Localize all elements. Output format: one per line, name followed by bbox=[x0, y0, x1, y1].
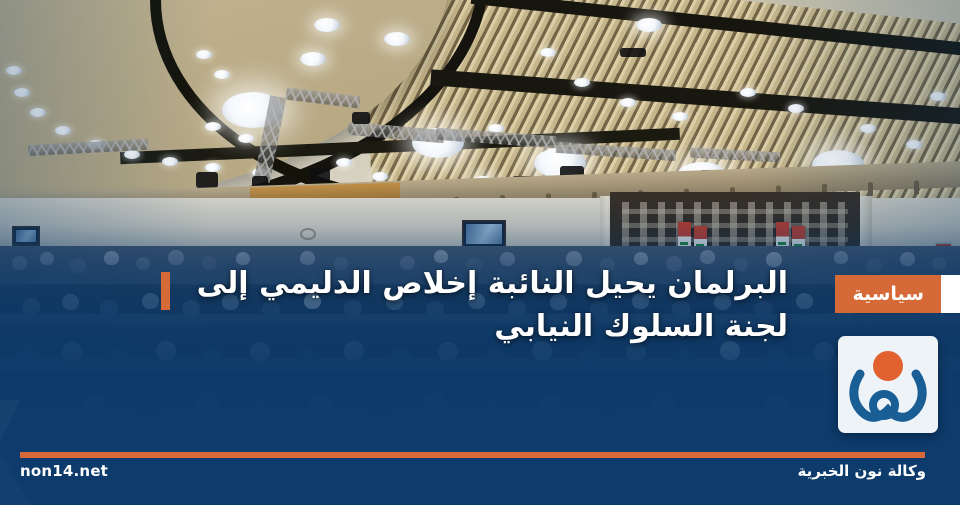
footer-divider bbox=[20, 452, 925, 458]
logo-right-arc bbox=[914, 374, 922, 412]
parliament-photo bbox=[0, 0, 960, 505]
agency-name: وكالة نون الخبرية bbox=[798, 462, 926, 480]
logo-left-arc bbox=[854, 374, 862, 412]
category-badge-label: سياسية bbox=[835, 275, 941, 313]
category-badge-cap bbox=[941, 275, 960, 313]
non14-logo-mark bbox=[838, 336, 938, 433]
headline-accent-tick bbox=[161, 272, 170, 310]
site-url[interactable]: non14.net bbox=[20, 462, 108, 480]
headline: البرلمان يحيل النائبة إخلاص الدليمي إلى … bbox=[170, 263, 788, 348]
logo-noon-bowl bbox=[873, 394, 895, 416]
non14-logo[interactable] bbox=[838, 336, 938, 433]
category-badge[interactable]: سياسية bbox=[835, 275, 960, 313]
news-card: سياسية البرلمان يحيل النائبة إخلاص الدلي… bbox=[0, 0, 960, 505]
logo-orange-dot bbox=[873, 351, 903, 381]
